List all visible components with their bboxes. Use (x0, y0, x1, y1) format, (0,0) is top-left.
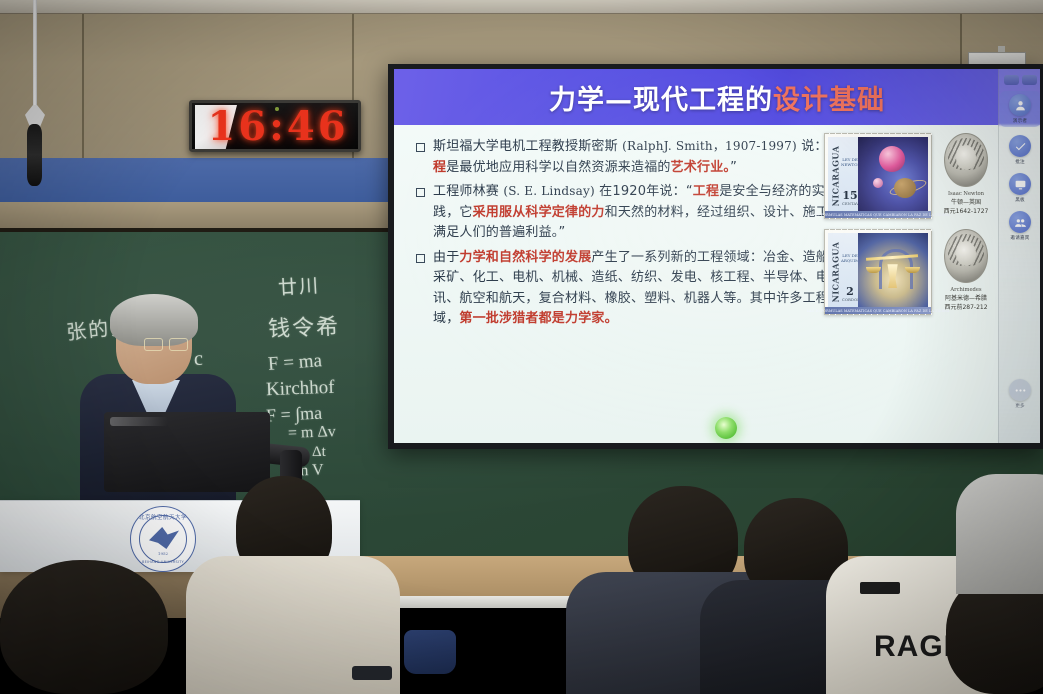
small-orb-shape (873, 178, 883, 188)
laser-pointer-dot (715, 417, 737, 439)
slide-title: 力学—现代工程的设计基础 (549, 78, 885, 117)
toolbar-button-more[interactable]: 更多 (1000, 379, 1040, 409)
toolbar-button-label: 批注 (1015, 159, 1025, 165)
planet-shape (894, 178, 916, 198)
check-icon[interactable] (1009, 135, 1031, 157)
stamp-artwork-archimedes (858, 233, 928, 311)
portrait-archimedes: Archimedes 阿基米德—希腊 西元前287-212 (938, 229, 994, 313)
projector-screen-frame: 力学—现代工程的设计基础 斯坦福大学电机工程教授斯密斯 (RalphJ. Smi… (388, 64, 1043, 449)
portrait-name-cn: 阿基米德—希腊 (938, 294, 994, 303)
stamp-footer-text: LAS 10 FORMULAS MATEMATICAS QUE CAMBIARO… (825, 307, 931, 314)
toolbar-button-label: 邀请嘉宾 (1010, 235, 1029, 241)
screen-icon[interactable] (1009, 173, 1031, 195)
stamp-denomination-panel: NICARAGUA LEY DE NEWTON 15 CENTAVOS (828, 137, 858, 215)
stamp-value-number: 15 (842, 189, 858, 202)
projected-slide: 力学—现代工程的设计基础 斯坦福大学电机工程教授斯密斯 (RalphJ. Smi… (394, 69, 1040, 443)
phone-on-desk (352, 666, 392, 680)
more-icon[interactable] (1009, 379, 1031, 401)
clock-time: 16:46 (192, 103, 361, 149)
bullet-square-icon (416, 143, 425, 152)
portrait-name-en: Isaac Newton (938, 190, 994, 198)
hanging-microphone (27, 124, 42, 186)
stamp-value: 15 CENTAVOS (842, 189, 858, 206)
bullet-text: 由于力学和自然科学的发展产生了一系列新的工程领域：冶金、造船、采矿、化工、电机、… (433, 248, 848, 330)
stamp-value-unit: CORDOBAS (842, 298, 858, 302)
screen-tile-icon[interactable] (1022, 75, 1037, 85)
slide-figure-column: NICARAGUA LEY DE NEWTON 15 CENTAVOS (824, 133, 996, 325)
student-torso (956, 474, 1043, 594)
bullet-square-icon (416, 254, 425, 263)
stamp-country-label: NICARAGUA (829, 233, 841, 311)
slide-bullet: 斯坦福大学电机工程教授斯密斯 (RalphJ. Smith，1907-1997)… (416, 137, 848, 178)
figure-row-archimedes: NICARAGUA LEY DE ARQUIMEDES 2 CORDOBAS (824, 229, 996, 315)
stamp-value: 2 CORDOBAS (842, 285, 858, 302)
portrait-name-en: Archimedes (938, 286, 994, 294)
portrait-name-cn: 牛顿—英国 (938, 198, 994, 207)
balance-scale-icon (858, 233, 928, 311)
portrait-newton: Isaac Newton 牛顿—英国 西元1642-1727 (938, 133, 994, 217)
seal-name-cn: 北京航空航天大学 (131, 513, 195, 521)
slide-title-main: 力学—现代工程的 (549, 85, 773, 116)
toolbar-button-label: 黑板 (1015, 197, 1025, 203)
toolbar-button-list[interactable]: 演示者批注黑板邀请嘉宾 (999, 91, 1040, 249)
portrait-oval (944, 133, 988, 187)
figure-row-newton: NICARAGUA LEY DE NEWTON 15 CENTAVOS (824, 133, 996, 219)
microphone-rod (33, 0, 37, 110)
stamp-newton: NICARAGUA LEY DE NEWTON 15 CENTAVOS (824, 133, 932, 219)
person-icon[interactable] (1009, 94, 1031, 116)
stamp-inner: NICARAGUA LEY DE ARQUIMEDES 2 CORDOBAS (828, 233, 928, 311)
toolbar-button-screen[interactable]: 黑板 (1000, 173, 1040, 203)
university-seal: 北京航空航天大学 1952 BEIHANG UNIVERSITY (130, 506, 196, 572)
newton-apple-icon (858, 137, 928, 215)
stamp-law-label: LEY DE NEWTON (841, 157, 859, 167)
slide-bullet: 工程师林赛 (S. E. Lindsay) 在1920年说：“工程是安全与经济的… (416, 182, 848, 244)
monitor-glare (110, 417, 168, 426)
toolbar-more-area[interactable]: 更多 (999, 379, 1040, 417)
toolbar-button-label: 演示者 (1013, 118, 1027, 124)
backpack (404, 630, 456, 674)
stamp-country-label: NICARAGUA (829, 137, 841, 215)
wall-seam (82, 14, 84, 160)
stamp-footer-text: LAS 10 FORMULAS MATEMATICAS QUE CAMBIARO… (825, 211, 931, 218)
stamp-value-number: 2 (842, 285, 858, 298)
led-wall-clock: 16:46 (189, 100, 361, 152)
slide-bullet: 由于力学和自然科学的发展产生了一系列新的工程领域：冶金、造船、采矿、化工、电机、… (416, 248, 848, 330)
stamp-inner: NICARAGUA LEY DE NEWTON 15 CENTAVOS (828, 137, 928, 215)
student-head (0, 560, 168, 694)
group-icon[interactable] (1009, 211, 1031, 233)
stamp-law-label: LEY DE ARQUIMEDES (841, 253, 859, 263)
toolbar-button-group[interactable]: 邀请嘉宾 (1000, 211, 1040, 241)
lectern-monitor (104, 412, 270, 492)
hoodie-tag (860, 582, 900, 594)
toolbar-button-label: 更多 (1015, 403, 1025, 409)
slide-title-bar: 力学—现代工程的设计基础 (394, 69, 1040, 125)
video-tile-icon[interactable] (1004, 75, 1019, 85)
bullet-text: 工程师林赛 (S. E. Lindsay) 在1920年说：“工程是安全与经济的… (433, 182, 848, 244)
slide-bullet-list: 斯坦福大学电机工程教授斯密斯 (RalphJ. Smith，1907-1997)… (416, 137, 848, 334)
portrait-oval (944, 229, 988, 283)
toolbar-button-check[interactable]: 批注 (1000, 135, 1040, 165)
meeting-toolbar[interactable]: 演示者批注黑板邀请嘉宾 更多 (998, 69, 1040, 443)
stamp-denomination-panel: NICARAGUA LEY DE ARQUIMEDES 2 CORDOBAS (828, 233, 858, 311)
wall-top-strip (0, 0, 1043, 14)
slide-body: 斯坦福大学电机工程教授斯密斯 (RalphJ. Smith，1907-1997)… (394, 125, 1040, 443)
eyeglasses-icon (144, 338, 188, 349)
apple-shape (879, 146, 905, 172)
lecture-hall-photo: 16:46 张的力学廿川钱令希F = maKirchhofF = ∫ma= m … (0, 0, 1043, 694)
seal-name-en: BEIHANG UNIVERSITY (131, 560, 195, 564)
stamp-value-unit: CENTAVOS (842, 202, 858, 206)
bullet-text: 斯坦福大学电机工程教授斯密斯 (RalphJ. Smith，1907-1997)… (433, 137, 848, 178)
bullet-square-icon (416, 188, 425, 197)
stamp-artwork-newton (858, 137, 928, 215)
toolbar-mini-row[interactable] (999, 73, 1040, 87)
slide-title-accent: 设计基础 (773, 85, 885, 116)
stamp-archimedes: NICARAGUA LEY DE ARQUIMEDES 2 CORDOBAS (824, 229, 932, 315)
toolbar-button-person[interactable]: 演示者 (1000, 91, 1040, 127)
seal-year: 1952 (131, 551, 195, 556)
